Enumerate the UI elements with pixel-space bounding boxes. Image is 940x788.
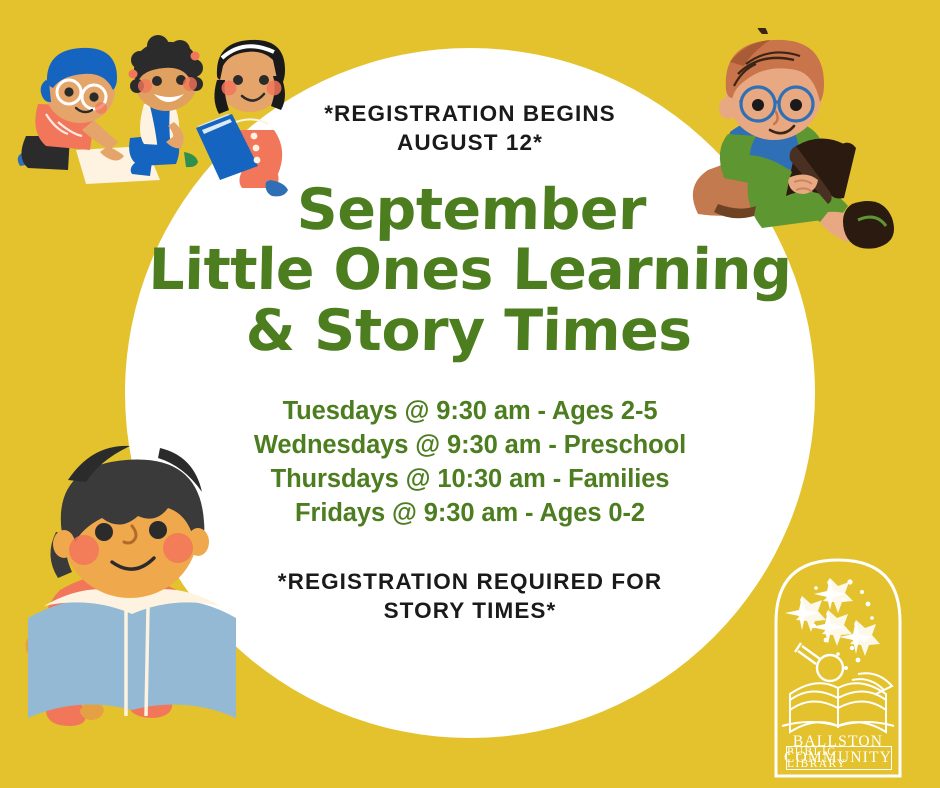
logo-tagline: PUBLIC LIBRARY	[786, 746, 892, 770]
schedule-row-thursday: Thursdays @ 10:30 am - Families	[150, 463, 790, 497]
registration-required-line1: *REGISTRATION REQUIRED FOR	[278, 569, 662, 594]
logo-tagline-anchor	[786, 772, 890, 773]
schedule-row-wednesday: Wednesdays @ 9:30 am - Preschool	[150, 429, 790, 463]
title-line-storytimes: & Story Times	[128, 300, 809, 360]
title-line-program: Little Ones Learning	[129, 240, 810, 300]
registration-begins-note: *REGISTRATION BEGINS AUGUST 12*	[235, 100, 705, 158]
poster-canvas: BALLSTON COMMUNITY PUBLIC LIBRARY *REGIS…	[0, 0, 940, 788]
title-line-month: September	[131, 180, 812, 240]
schedule-row-tuesday: Tuesdays @ 9:30 am - Ages 2-5	[150, 395, 790, 429]
registration-required-line2: STORY TIMES*	[384, 598, 557, 623]
registration-required-note: *REGISTRATION REQUIRED FOR STORY TIMES*	[235, 568, 705, 626]
schedule-row-friday: Fridays @ 9:30 am - Ages 0-2	[150, 497, 790, 531]
poster-title: September Little Ones Learning & Story T…	[128, 180, 812, 361]
schedule-list: Tuesdays @ 9:30 am - Ages 2-5 Wednesdays…	[150, 395, 790, 531]
logo-tagline-text: PUBLIC LIBRARY	[787, 746, 891, 770]
registration-begins-line1: *REGISTRATION BEGINS	[324, 101, 616, 126]
registration-begins-line2: AUGUST 12*	[397, 130, 543, 155]
poster-text-content: *REGISTRATION BEGINS AUGUST 12* Septembe…	[125, 48, 815, 738]
